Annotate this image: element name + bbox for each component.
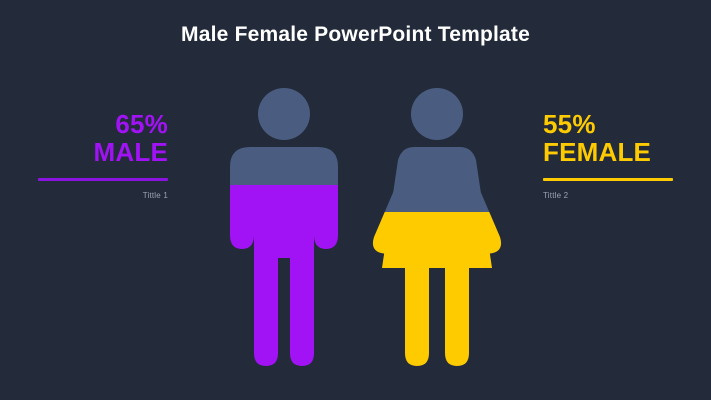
female-pictogram xyxy=(373,88,501,366)
male-pictogram xyxy=(230,88,338,366)
slide-canvas: Male Female PowerPoint Template 65% MALE… xyxy=(0,0,711,400)
pictogram-group xyxy=(0,0,711,400)
